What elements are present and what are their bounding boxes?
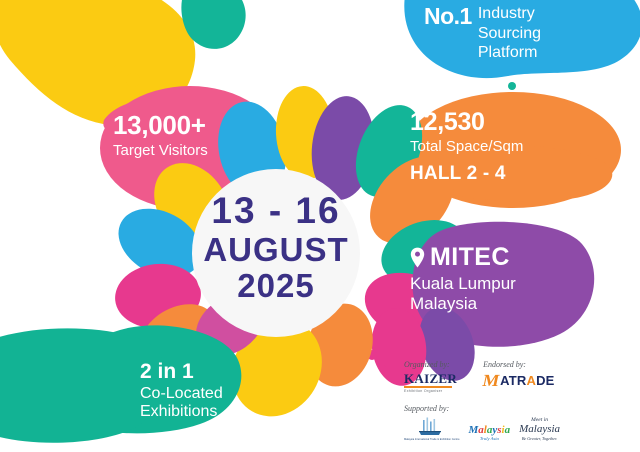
matrade-rest-highlight: A xyxy=(527,373,537,388)
credits-row: Organized by: KAIZER Exhibition Organise… xyxy=(404,360,584,393)
malaysia-wordmark: Malaysia xyxy=(469,425,511,436)
venue-city: Kuala Lumpur xyxy=(410,274,600,294)
dot-pink-lower-small xyxy=(380,366,387,373)
organizer-block: Organized by: KAIZER Exhibition Organise… xyxy=(404,360,457,393)
location-pin-icon xyxy=(410,247,425,268)
hall-label: HALL 2 - 4 xyxy=(410,163,610,185)
dot-yellow-small xyxy=(114,65,123,74)
dot-yellow-medium xyxy=(126,73,140,87)
date-month: AUGUST xyxy=(186,233,366,266)
colocated-value: 2 in 1 xyxy=(140,360,320,384)
venue-country: Malaysia xyxy=(410,294,600,314)
colocated-line-1: Co-Located xyxy=(140,385,320,403)
colocated-line-2: Exhibitions xyxy=(140,403,320,421)
badge-no1: No.1IndustrySourcingPlatform xyxy=(424,4,584,63)
no1-lines: IndustrySourcingPlatform xyxy=(478,4,541,63)
no1-line-2: Sourcing xyxy=(478,25,541,42)
supporter-logos: Malaysia International Trade & Exhibitio… xyxy=(404,417,589,441)
no1-emphasis: No.1 xyxy=(424,4,472,29)
malaysia-tagline: Truly Asia xyxy=(469,437,511,442)
event-date: 13 - 16 AUGUST 2025 xyxy=(186,192,366,302)
no1-line-1: Industry xyxy=(478,5,535,22)
endorsed-by-label: Endorsed by: xyxy=(483,360,554,369)
badge-target-visitors: 13,000+ Target Visitors xyxy=(113,110,303,159)
venue-name-row: MITEC xyxy=(410,243,600,272)
supported-section: Supported by: Malaysia International Tra… xyxy=(404,404,589,441)
event-poster: No.1IndustrySourcingPlatform 13,000+ Tar… xyxy=(0,0,640,452)
space-label: Total Space/Sqm xyxy=(410,138,610,155)
meet-tagline: Be Greater, Together. xyxy=(519,437,560,441)
badge-colocated: 2 in 1 Co-Located Exhibitions xyxy=(140,360,320,421)
kaizer-tagline: Exhibition Organiser xyxy=(404,389,457,393)
visitors-label: Target Visitors xyxy=(113,142,303,159)
credits-section: Organized by: KAIZER Exhibition Organise… xyxy=(404,360,584,393)
kaizer-wordmark: KAIZER xyxy=(404,372,457,385)
endorser-block: Endorsed by: M ATRADE xyxy=(483,360,554,393)
dot-teal-cyan xyxy=(508,82,516,90)
venue-name: MITEC xyxy=(430,243,510,272)
supporter-meet-in-malaysia: Meet in Malaysia Be Greater, Together. xyxy=(519,418,560,441)
badge-total-space: 12,530 Total Space/Sqm HALL 2 - 4 xyxy=(410,108,610,185)
matrade-rest-a: ATR xyxy=(500,373,526,388)
kaizer-underline xyxy=(404,386,452,388)
supporter-mitec: Malaysia International Trade & Exhibitio… xyxy=(404,417,460,441)
matrade-wordmark: ATRADE xyxy=(500,374,554,387)
date-year: 2025 xyxy=(186,269,366,302)
mitec-building-icon xyxy=(417,417,447,437)
visitors-value: 13,000+ xyxy=(113,110,303,141)
space-value: 12,530 xyxy=(410,108,610,137)
no1-line-3: Platform xyxy=(478,44,538,61)
matrade-rest-b: DE xyxy=(536,373,554,388)
supporter-malaysia-truly-asia: Malaysia Truly Asia xyxy=(469,425,511,442)
kaizer-logo: KAIZER Exhibition Organiser xyxy=(404,372,457,393)
mitec-caption: Malaysia International Trade & Exhibitio… xyxy=(404,438,460,441)
supported-by-label: Supported by: xyxy=(404,404,589,413)
matrade-logo: M ATRADE xyxy=(483,372,554,389)
matrade-mark: M xyxy=(481,372,501,389)
organized-by-label: Organized by: xyxy=(404,360,457,369)
date-range: 13 - 16 xyxy=(186,192,366,229)
meet-malaysia-wordmark: Malaysia xyxy=(519,424,560,436)
badge-venue: MITEC Kuala Lumpur Malaysia xyxy=(410,243,600,314)
